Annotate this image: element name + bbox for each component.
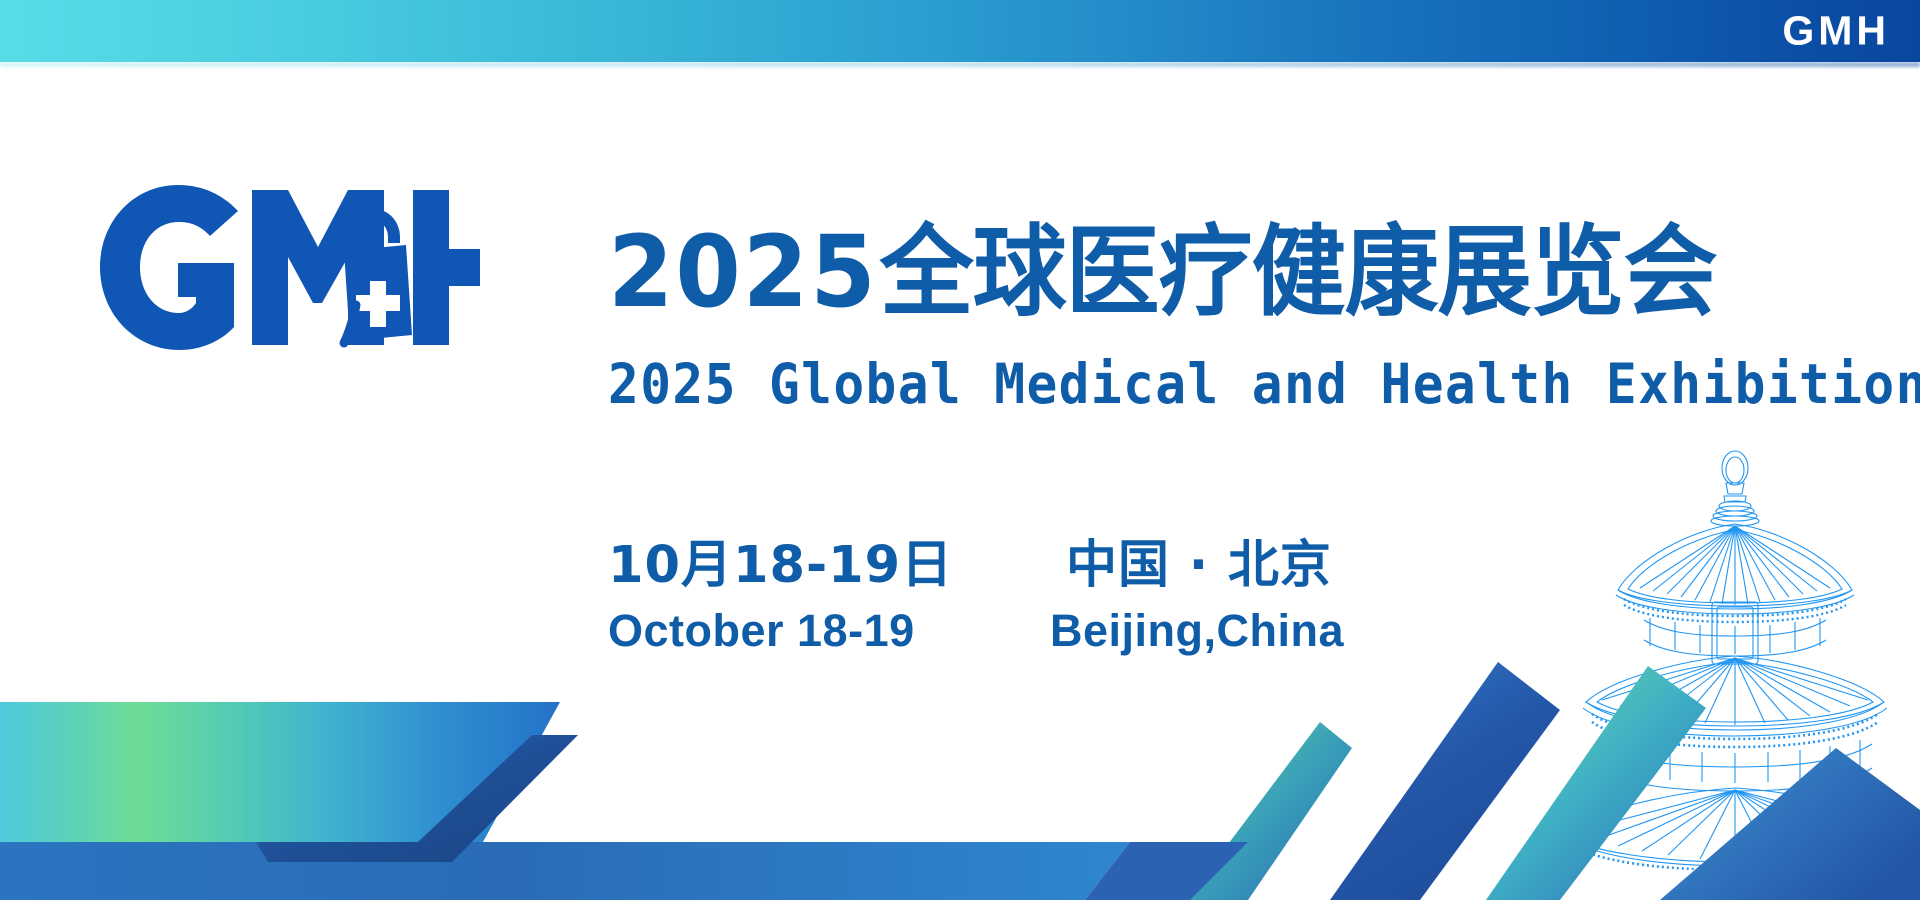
page-title-en: 2025 Global Medical and Health Exhibitio… (608, 357, 1920, 412)
title-cn-text: 全球医疗健康展览会 (880, 216, 1717, 330)
bottom-decoration (0, 580, 1920, 900)
title-year: 2025 (608, 216, 878, 330)
deco-band-bottom (0, 842, 1130, 900)
top-bar-shadow (0, 62, 1920, 67)
top-brand-bar: GMH (0, 0, 1920, 62)
deco-ribbon-4 (1660, 748, 1920, 900)
brand-logotype: GMH (1782, 11, 1890, 52)
event-banner: GMH (0, 0, 1920, 900)
page-title-cn: 2025全球医疗健康展览会 (608, 224, 1717, 323)
gmh-logo (100, 185, 480, 350)
